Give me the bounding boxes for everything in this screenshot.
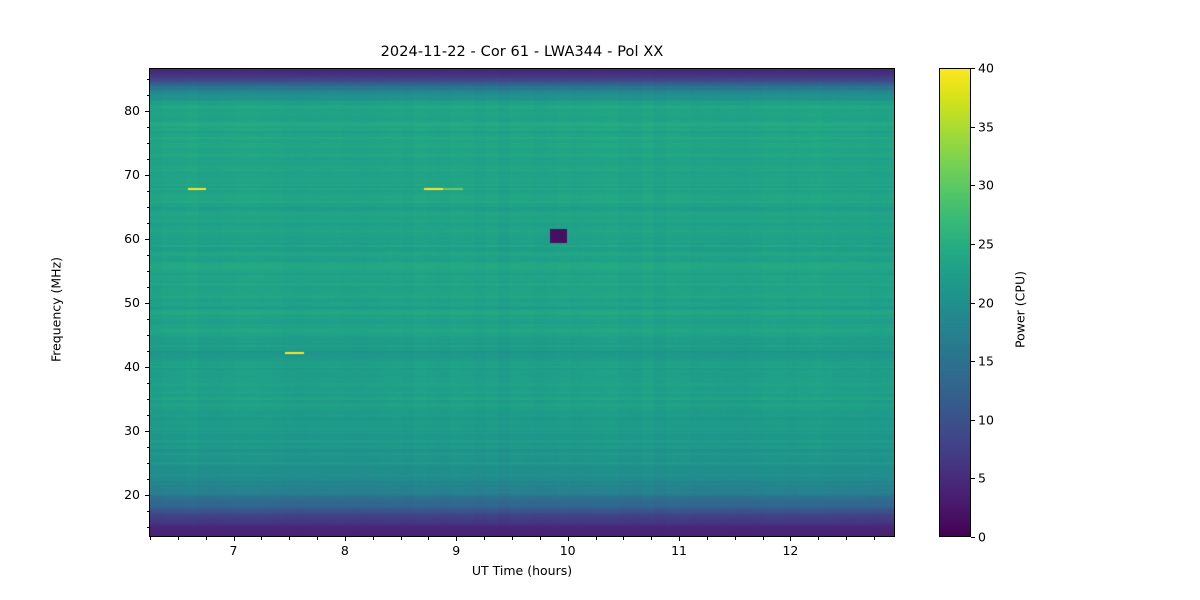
y-tick-minor [147, 447, 150, 448]
y-tick-minor [147, 335, 150, 336]
colorbar-tick-label: 0 [978, 530, 986, 545]
x-tick-minor [763, 537, 764, 540]
x-tick-label: 11 [671, 543, 687, 558]
x-tick-minor [512, 537, 513, 540]
y-tick-minor [147, 271, 150, 272]
y-tick-minor [147, 527, 150, 528]
y-tick-minor [147, 351, 150, 352]
y-tick-minor [147, 383, 150, 384]
x-tick-minor [289, 537, 290, 540]
colorbar-tick-label: 25 [978, 236, 994, 251]
x-tick-minor [707, 537, 708, 540]
x-tick-minor [846, 537, 847, 540]
colorbar-tick-label: 40 [978, 61, 994, 76]
x-tick-minor [401, 537, 402, 540]
x-tick-label: 8 [341, 543, 349, 558]
x-axis-label: UT Time (hours) [149, 563, 895, 578]
y-tick-label: 20 [108, 487, 140, 502]
colorbar-tick [971, 478, 975, 479]
x-tick-minor [735, 537, 736, 540]
colorbar-tick-label: 5 [978, 471, 986, 486]
y-tick-major [145, 367, 149, 368]
y-tick-minor [147, 287, 150, 288]
matplotlib-figure: 2024-11-22 - Cor 61 - LWA344 - Pol XX 78… [0, 0, 1200, 600]
x-tick-major [456, 537, 457, 541]
y-tick-major [145, 431, 149, 432]
y-tick-label: 30 [108, 423, 140, 438]
colorbar-tick [971, 361, 975, 362]
x-tick-minor [818, 537, 819, 540]
y-tick-major [145, 495, 149, 496]
x-tick-major [568, 537, 569, 541]
x-tick-minor [596, 537, 597, 540]
y-tick-label: 50 [108, 295, 140, 310]
x-tick-major [234, 537, 235, 541]
x-tick-minor [373, 537, 374, 540]
x-tick-label: 7 [230, 543, 238, 558]
y-tick-major [145, 303, 149, 304]
y-tick-minor [147, 255, 150, 256]
colorbar-tick [971, 127, 975, 128]
y-tick-label: 80 [108, 103, 140, 118]
y-tick-minor [147, 159, 150, 160]
y-tick-label: 70 [108, 167, 140, 182]
y-tick-minor [147, 207, 150, 208]
colorbar-tick-label: 10 [978, 412, 994, 427]
y-tick-minor [147, 415, 150, 416]
y-tick-minor [147, 319, 150, 320]
colorbar-tick [971, 244, 975, 245]
colorbar-tick-label: 15 [978, 354, 994, 369]
x-tick-label: 10 [560, 543, 576, 558]
y-tick-label: 40 [108, 359, 140, 374]
x-tick-minor [317, 537, 318, 540]
y-tick-minor [147, 191, 150, 192]
y-tick-minor [147, 79, 150, 80]
y-tick-minor [147, 511, 150, 512]
y-tick-major [145, 239, 149, 240]
colorbar-tick [971, 185, 975, 186]
y-tick-minor [147, 143, 150, 144]
y-tick-label: 60 [108, 231, 140, 246]
y-tick-minor [147, 95, 150, 96]
x-tick-minor [150, 537, 151, 540]
y-tick-minor [147, 399, 150, 400]
x-tick-label: 9 [452, 543, 460, 558]
colorbar-tick [971, 420, 975, 421]
page-title: 2024-11-22 - Cor 61 - LWA344 - Pol XX [149, 44, 895, 60]
colorbar [939, 68, 971, 537]
x-tick-label: 12 [782, 543, 798, 558]
colorbar-tick-label: 20 [978, 295, 994, 310]
colorbar-tick [971, 68, 975, 69]
y-tick-minor [147, 463, 150, 464]
y-axis-label: Frequency (MHz) [49, 210, 64, 410]
x-tick-minor [428, 537, 429, 540]
x-tick-minor [874, 537, 875, 540]
x-tick-minor [651, 537, 652, 540]
colorbar-tick-label: 35 [978, 119, 994, 134]
x-tick-minor [206, 537, 207, 540]
x-tick-minor [623, 537, 624, 540]
x-tick-minor [178, 537, 179, 540]
colorbar-tick [971, 537, 975, 538]
y-tick-major [145, 175, 149, 176]
colorbar-tick [971, 303, 975, 304]
x-tick-minor [540, 537, 541, 540]
x-tick-minor [484, 537, 485, 540]
x-tick-major [679, 537, 680, 541]
dynamic-spectrum-heatmap [150, 69, 894, 536]
x-tick-major [345, 537, 346, 541]
y-tick-major [145, 111, 149, 112]
y-tick-minor [147, 223, 150, 224]
y-tick-minor [147, 479, 150, 480]
y-tick-minor [147, 127, 150, 128]
colorbar-gradient [940, 69, 970, 536]
colorbar-label: Power (CPU) [1013, 210, 1028, 410]
x-tick-minor [261, 537, 262, 540]
colorbar-tick-label: 30 [978, 178, 994, 193]
heatmap-plot-area [149, 68, 895, 537]
x-tick-major [790, 537, 791, 541]
